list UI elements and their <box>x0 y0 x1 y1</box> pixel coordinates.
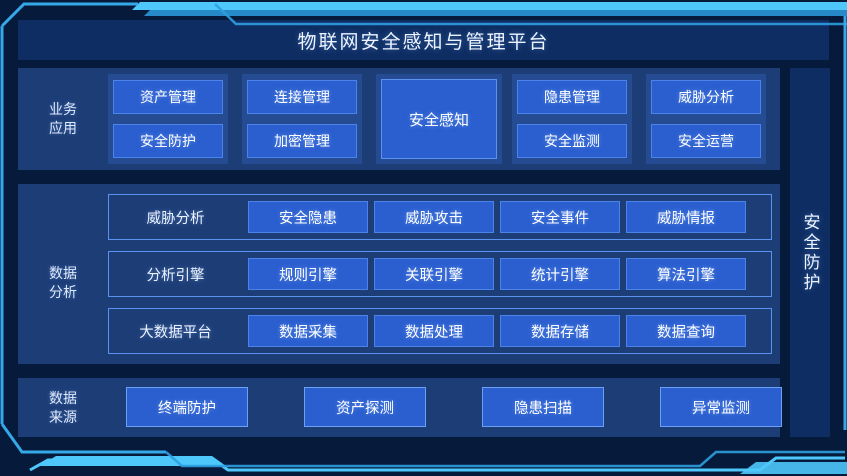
analysis-item-data-query[interactable]: 数据查询 <box>626 315 746 347</box>
analysis-item-statistics-engine[interactable]: 统计引擎 <box>500 258 620 290</box>
business-item-hazard-management[interactable]: 隐患管理 <box>517 80 627 114</box>
analysis-item-rule-engine[interactable]: 规则引擎 <box>248 258 368 290</box>
analysis-item-data-storage[interactable]: 数据存储 <box>500 315 620 347</box>
data-analysis-panel: 数据 分析 威胁分析 安全隐患 威胁攻击 安全事件 威胁情报 分析引擎 规则引擎… <box>18 184 780 364</box>
analysis-item-security-hazard[interactable]: 安全隐患 <box>248 201 368 233</box>
source-item-endpoint-protection[interactable]: 终端防护 <box>126 387 248 427</box>
business-center-wrapper: 安全感知 <box>376 74 502 164</box>
analysis-item-security-event[interactable]: 安全事件 <box>500 201 620 233</box>
business-item-asset-management[interactable]: 资产管理 <box>113 80 223 114</box>
analysis-row-bigdata: 大数据平台 数据采集 数据处理 数据存储 数据查询 <box>108 308 772 354</box>
platform-title-bar: 物联网安全感知与管理平台 <box>18 20 829 60</box>
analysis-item-threat-intelligence[interactable]: 威胁情报 <box>626 201 746 233</box>
business-column-2: 连接管理 加密管理 <box>242 74 362 164</box>
business-item-encryption-management[interactable]: 加密管理 <box>247 124 357 158</box>
business-item-security-operations[interactable]: 安全运营 <box>651 124 761 158</box>
analysis-row-engine: 分析引擎 规则引擎 关联引擎 统计引擎 算法引擎 <box>108 251 772 297</box>
business-application-panel: 业务 应用 资产管理 安全防护 连接管理 加密管理 安全感知 隐患管理 安全监测… <box>18 68 780 170</box>
source-item-anomaly-monitoring[interactable]: 异常监测 <box>660 387 782 427</box>
analysis-item-threat-attack[interactable]: 威胁攻击 <box>374 201 494 233</box>
data-source-items: 终端防护 资产探测 隐患扫描 异常监测 <box>108 387 772 429</box>
business-application-grid: 资产管理 安全防护 连接管理 加密管理 安全感知 隐患管理 安全监测 威胁分析 … <box>108 74 772 164</box>
analysis-row-1-head: 威胁分析 <box>109 207 242 228</box>
analysis-row-threat: 威胁分析 安全隐患 威胁攻击 安全事件 威胁情报 <box>108 194 772 240</box>
analysis-row-2-head: 分析引擎 <box>109 264 242 285</box>
analysis-item-data-collection[interactable]: 数据采集 <box>248 315 368 347</box>
diagram-root: 物联网安全感知与管理平台 业务 应用 资产管理 安全防护 连接管理 加密管理 安… <box>0 0 847 476</box>
business-item-security-monitoring[interactable]: 安全监测 <box>517 124 627 158</box>
data-analysis-label: 数据 分析 <box>24 264 102 302</box>
page-title: 物联网安全感知与管理平台 <box>297 27 549 54</box>
business-column-1: 资产管理 安全防护 <box>108 74 228 164</box>
analysis-item-data-processing[interactable]: 数据处理 <box>374 315 494 347</box>
data-source-label: 数据 来源 <box>24 389 102 427</box>
analysis-row-3-head: 大数据平台 <box>109 321 242 342</box>
security-protection-label: 安全防护 <box>798 213 823 293</box>
business-item-threat-analysis[interactable]: 威胁分析 <box>651 80 761 114</box>
business-application-label: 业务 应用 <box>24 100 102 138</box>
business-item-security-protection[interactable]: 安全防护 <box>113 124 223 158</box>
analysis-item-correlation-engine[interactable]: 关联引擎 <box>374 258 494 290</box>
source-item-asset-discovery[interactable]: 资产探测 <box>304 387 426 427</box>
data-analysis-rows: 威胁分析 安全隐患 威胁攻击 安全事件 威胁情报 分析引擎 规则引擎 关联引擎 … <box>108 194 772 354</box>
business-item-connection-management[interactable]: 连接管理 <box>247 80 357 114</box>
analysis-item-algorithm-engine[interactable]: 算法引擎 <box>626 258 746 290</box>
business-column-3: 隐患管理 安全监测 <box>512 74 632 164</box>
business-column-4: 威胁分析 安全运营 <box>646 74 766 164</box>
source-item-hazard-scan[interactable]: 隐患扫描 <box>482 387 604 427</box>
data-source-panel: 数据 来源 终端防护 资产探测 隐患扫描 异常监测 <box>18 378 780 437</box>
security-protection-column[interactable]: 安全防护 <box>790 68 830 437</box>
business-item-security-awareness[interactable]: 安全感知 <box>381 79 497 159</box>
